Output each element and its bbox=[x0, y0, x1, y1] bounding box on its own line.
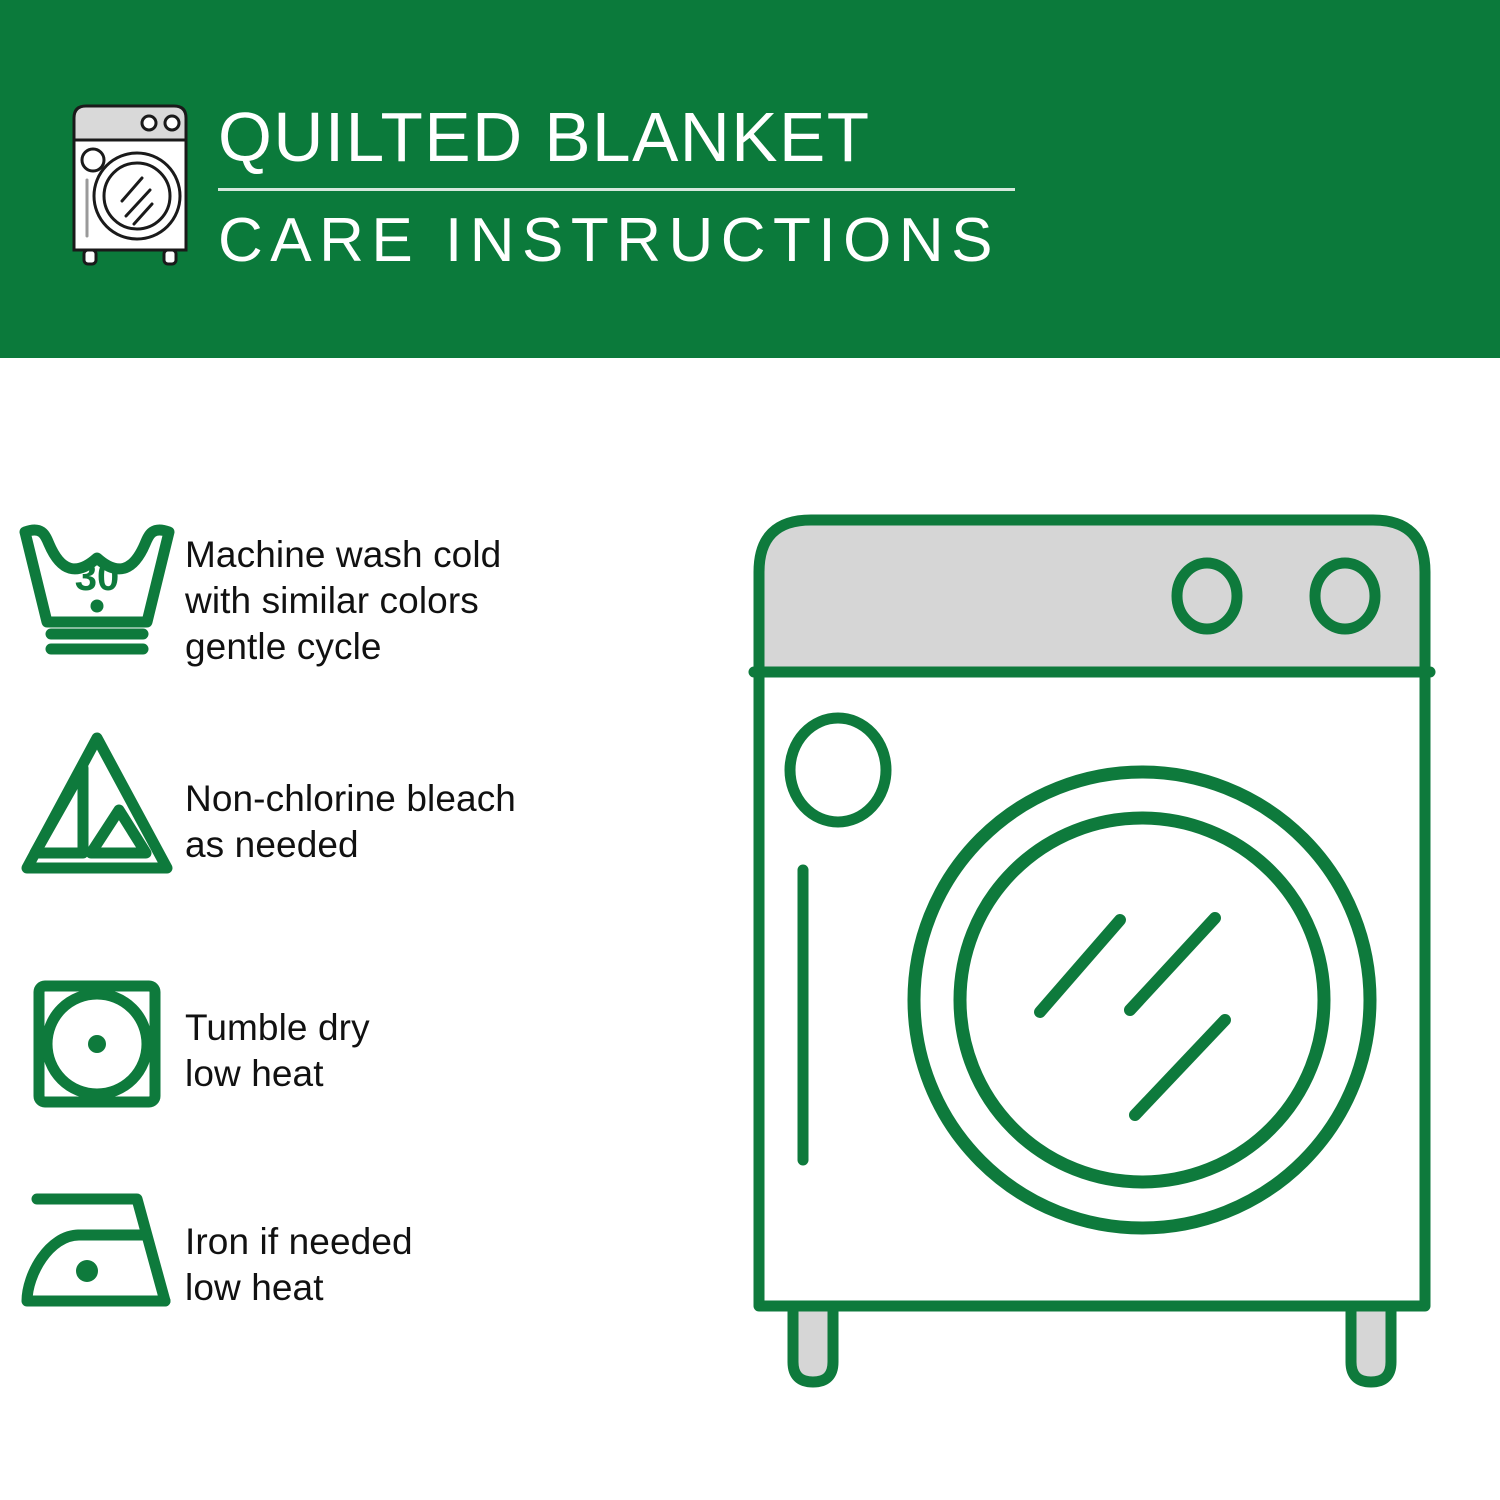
care-row-machine-wash: 30 Machine wash cold with similar colors… bbox=[0, 518, 720, 670]
front-load-washing-machine-illustration bbox=[745, 500, 1445, 1420]
washing-machine-icon bbox=[60, 98, 210, 266]
non-chlorine-bleach-triangle-icon bbox=[0, 728, 185, 878]
care-instruction-list: 30 Machine wash cold with similar colors… bbox=[0, 358, 740, 1500]
care-text-iron: Iron if needed low heat bbox=[185, 1183, 413, 1311]
wash-temperature-label: 30 bbox=[75, 555, 120, 599]
tumble-dry-low-icon bbox=[0, 973, 185, 1113]
care-row-tumble-dry: Tumble dry low heat bbox=[0, 973, 720, 1113]
iron-low-heat-icon bbox=[0, 1183, 185, 1313]
header-band: QUILTED BLANKET CARE INSTRUCTIONS bbox=[0, 0, 1500, 358]
page-subtitle: CARE INSTRUCTIONS bbox=[218, 205, 1028, 277]
low-heat-dot bbox=[88, 1035, 106, 1053]
care-text-machine-wash: Machine wash cold with similar colors ge… bbox=[185, 518, 501, 670]
page-title: QUILTED BLANKET bbox=[218, 96, 1020, 178]
machine-wash-30-icon: 30 bbox=[0, 518, 185, 658]
care-instructions-page: QUILTED BLANKET CARE INSTRUCTIONS bbox=[0, 0, 1500, 1500]
low-heat-dot bbox=[76, 1260, 98, 1282]
care-row-iron: Iron if needed low heat bbox=[0, 1183, 720, 1313]
gentle-cycle-dot bbox=[91, 600, 104, 613]
care-text-tumble-dry: Tumble dry low heat bbox=[185, 973, 370, 1097]
knob-left bbox=[1177, 563, 1237, 629]
header-title-group: QUILTED BLANKET CARE INSTRUCTIONS bbox=[218, 96, 1028, 277]
knob-right bbox=[1315, 563, 1375, 629]
care-row-bleach: Non-chlorine bleach as needed bbox=[0, 728, 720, 878]
leg-right bbox=[1351, 1305, 1391, 1382]
title-divider bbox=[218, 188, 1015, 191]
leg-left bbox=[793, 1305, 833, 1382]
care-text-bleach: Non-chlorine bleach as needed bbox=[185, 728, 516, 868]
detergent-dispenser-circle bbox=[790, 718, 886, 822]
